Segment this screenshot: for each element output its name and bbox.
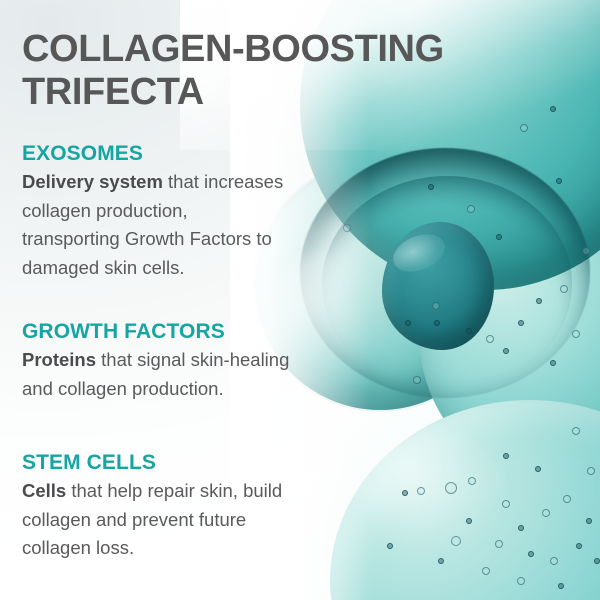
gel-bubble	[405, 320, 411, 326]
gel-bubble	[466, 518, 472, 524]
gel-bubble	[468, 477, 476, 485]
gel-bubble	[582, 247, 590, 255]
gel-bubble	[387, 543, 393, 549]
page-title-line-1: COLLAGEN-BOOSTING	[22, 28, 444, 70]
gel-bubble	[572, 427, 580, 435]
page-title-line-2: TRIFECTA	[22, 71, 204, 113]
gel-bubble	[556, 178, 562, 184]
section-exosomes-body: Delivery system that increases collagen …	[22, 168, 290, 282]
gel-bubble	[343, 224, 351, 232]
gel-bubble	[434, 320, 440, 326]
section-stem-cells-heading: STEM CELLS	[22, 450, 290, 475]
gel-bubble	[520, 124, 528, 132]
gel-bubble	[550, 360, 556, 366]
gel-bubble	[542, 509, 550, 517]
gel-bubble	[563, 495, 571, 503]
gel-bubble	[550, 557, 558, 565]
gel-bubble	[502, 500, 510, 508]
gel-bubble	[417, 487, 425, 495]
gel-highlight-lower	[356, 430, 506, 550]
section-growth-factors-heading: GROWTH FACTORS	[22, 319, 290, 344]
section-stem-cells: STEM CELLS Cells that help repair skin, …	[22, 450, 290, 563]
gel-bubble	[536, 298, 542, 304]
gel-bubble	[467, 205, 475, 213]
section-exosomes-heading: EXOSOMES	[22, 141, 290, 166]
gel-bubble	[482, 567, 490, 575]
gel-bubble	[572, 330, 580, 338]
gel-bubble	[438, 558, 444, 564]
gel-bubble	[517, 577, 525, 585]
section-growth-factors: GROWTH FACTORS Proteins that signal skin…	[22, 319, 290, 403]
gel-bubble	[445, 482, 457, 494]
gel-bubble	[466, 328, 472, 334]
gel-bubble	[451, 536, 461, 546]
gel-bubble	[518, 320, 524, 326]
gel-bubble	[432, 302, 440, 310]
gel-bubble	[528, 551, 534, 557]
gel-bubble	[586, 518, 592, 524]
gel-bubble	[518, 525, 524, 531]
gel-bubble	[402, 490, 408, 496]
page-title: COLLAGEN-BOOSTINGTRIFECTA	[22, 28, 522, 114]
section-growth-factors-lead: Proteins	[22, 349, 96, 370]
gel-bubble	[558, 583, 564, 589]
gel-bubble	[576, 543, 582, 549]
section-exosomes: EXOSOMES Delivery system that increases …	[22, 141, 290, 282]
gel-bubble	[550, 106, 556, 112]
gel-bubble	[486, 335, 494, 343]
gel-bubble	[560, 285, 568, 293]
gel-bubble	[495, 540, 503, 548]
gel-bubble	[503, 453, 509, 459]
section-growth-factors-body: Proteins that signal skin-healing and co…	[22, 346, 290, 403]
section-exosomes-lead: Delivery system	[22, 171, 163, 192]
gel-bubble	[428, 184, 434, 190]
gel-bubble	[587, 467, 595, 475]
gel-bubble	[413, 376, 421, 384]
poster-canvas: COLLAGEN-BOOSTINGTRIFECTA EXOSOMES Deliv…	[0, 0, 600, 600]
section-stem-cells-lead: Cells	[22, 480, 66, 501]
gel-bubble	[594, 558, 600, 564]
section-stem-cells-body: Cells that help repair skin, build colla…	[22, 477, 290, 563]
gel-bubble	[496, 234, 502, 240]
gel-bubble	[503, 348, 509, 354]
gel-bubble	[535, 466, 541, 472]
text-column: COLLAGEN-BOOSTINGTRIFECTA EXOSOMES Deliv…	[0, 0, 300, 600]
